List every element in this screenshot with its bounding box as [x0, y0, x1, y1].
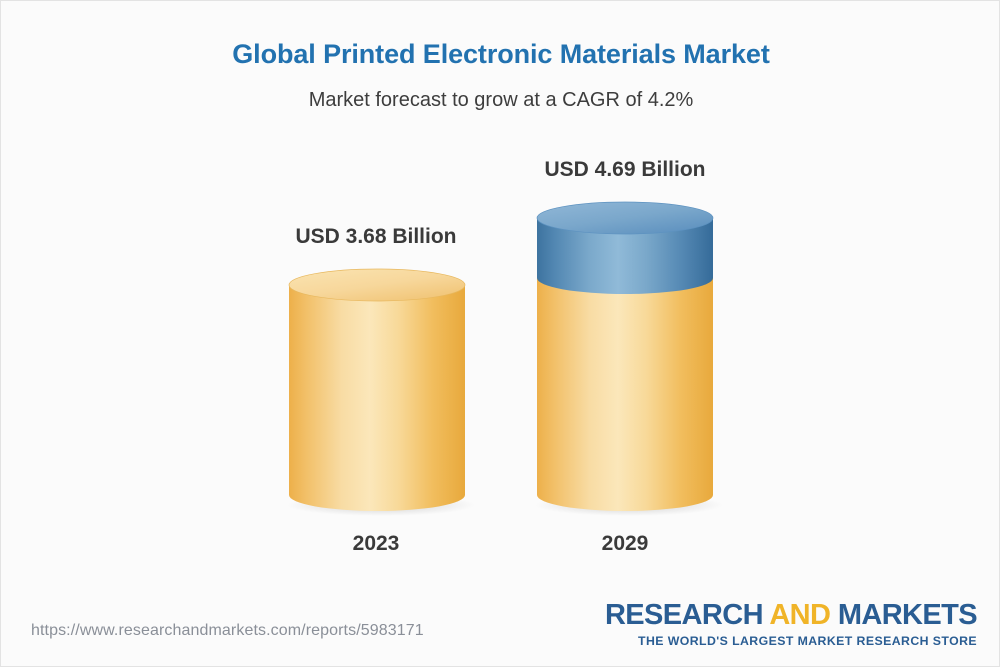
cylinder-body-base-2029 — [537, 278, 713, 511]
cylinder-body-2023 — [289, 285, 465, 511]
research-and-markets-logo[interactable]: RESEARCH AND MARKETS THE WORLD'S LARGEST… — [605, 601, 977, 647]
logo-word-research: RESEARCH — [605, 599, 763, 631]
bar-value-label-2029: USD 4.69 Billion — [495, 158, 755, 182]
logo-wordmark: RESEARCH AND MARKETS — [605, 601, 977, 630]
infographic-canvas: Global Printed Electronic Materials Mark… — [0, 0, 1000, 667]
bar-category-label-2023: 2023 — [246, 532, 506, 556]
logo-word-and: AND — [769, 599, 830, 631]
cylinder-bar-2023 — [289, 269, 465, 515]
cylinder-bar-2029 — [537, 202, 713, 515]
chart-plot-area: USD 3.68 Billion — [1, 1, 1000, 601]
logo-tagline: THE WORLD'S LARGEST MARKET RESEARCH STOR… — [605, 635, 977, 647]
cylinder-top-cap-2029 — [537, 202, 713, 234]
report-url-link[interactable]: https://www.researchandmarkets.com/repor… — [31, 622, 424, 640]
bar-category-label-2029: 2029 — [495, 532, 755, 556]
logo-word-markets: MARKETS — [838, 599, 977, 631]
bar-value-label-2023: USD 3.68 Billion — [246, 225, 506, 249]
cylinder-top-cap-2023 — [289, 269, 465, 301]
